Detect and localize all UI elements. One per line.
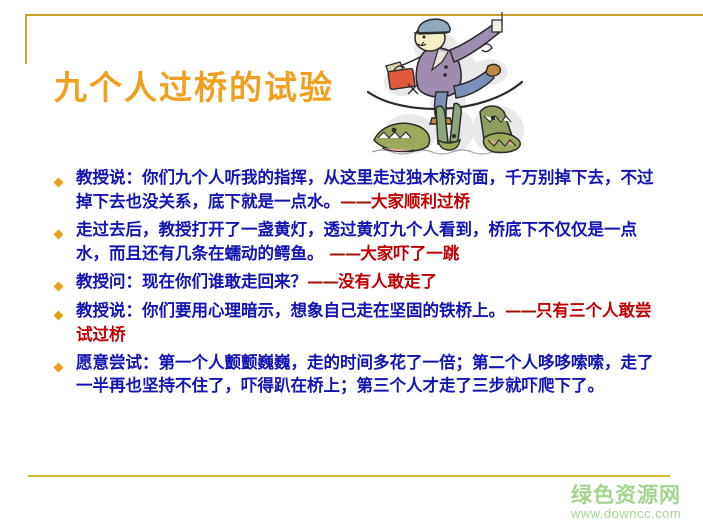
tightrope-walker-illustration: [362, 12, 542, 160]
bullet-text: 教授说：你们要用心理暗示，想象自己走在坚固的铁桥上。——只有三个人敢尝试过桥: [76, 299, 665, 347]
list-item: 教授说：你们要用心理暗示，想象自己走在坚固的铁桥上。——只有三个人敢尝试过桥: [50, 299, 665, 347]
list-item: 走过去后，教授打开了一盏黄灯，透过黄灯九个人看到，桥底下不仅仅是一点水，而且还有…: [50, 218, 665, 266]
bullet-text: 教授问：现在你们谁敢走回来？——没有人敢走了: [76, 270, 665, 294]
bullet-text: 愿意尝试：第一个人颤颤巍巍，走的时间多花了一倍；第二个人哆哆嗦嗦，走了一半再也坚…: [76, 351, 665, 399]
bullet-diamond-icon: [50, 270, 76, 295]
bottom-rule-line: [28, 475, 670, 477]
list-item: 教授问：现在你们谁敢走回来？——没有人敢走了: [50, 270, 665, 295]
bullet-diamond-icon: [50, 299, 76, 324]
bullet-text: 教授说：你们九个人听我的指挥，从这里走过独木桥对面，千万别掉下去，不过掉下去也没…: [76, 166, 665, 214]
bullet-diamond-icon: [50, 351, 76, 376]
bullet-text: 走过去后，教授打开了一盏黄灯，透过黄灯九个人看到，桥底下不仅仅是一点水，而且还有…: [76, 218, 665, 266]
list-item: 教授说：你们九个人听我的指挥，从这里走过独木桥对面，千万别掉下去，不过掉下去也没…: [50, 166, 665, 214]
bullet-diamond-icon: [50, 218, 76, 243]
bullet-list: 教授说：你们九个人听我的指挥，从这里走过独木桥对面，千万别掉下去，不过掉下去也没…: [50, 166, 665, 402]
watermark-url: www.downcc.com: [556, 506, 696, 523]
slide-canvas: 九个人过桥的试验: [0, 0, 703, 530]
bullet-diamond-icon: [50, 166, 76, 191]
list-item: 愿意尝试：第一个人颤颤巍巍，走的时间多花了一倍；第二个人哆哆嗦嗦，走了一半再也坚…: [50, 351, 665, 399]
watermark-site-name: 绿色资源网: [556, 484, 696, 506]
slide-title: 九个人过桥的试验: [54, 70, 334, 106]
left-rule-line: [25, 14, 27, 64]
watermark: 绿色资源网 www.downcc.com: [556, 484, 696, 523]
